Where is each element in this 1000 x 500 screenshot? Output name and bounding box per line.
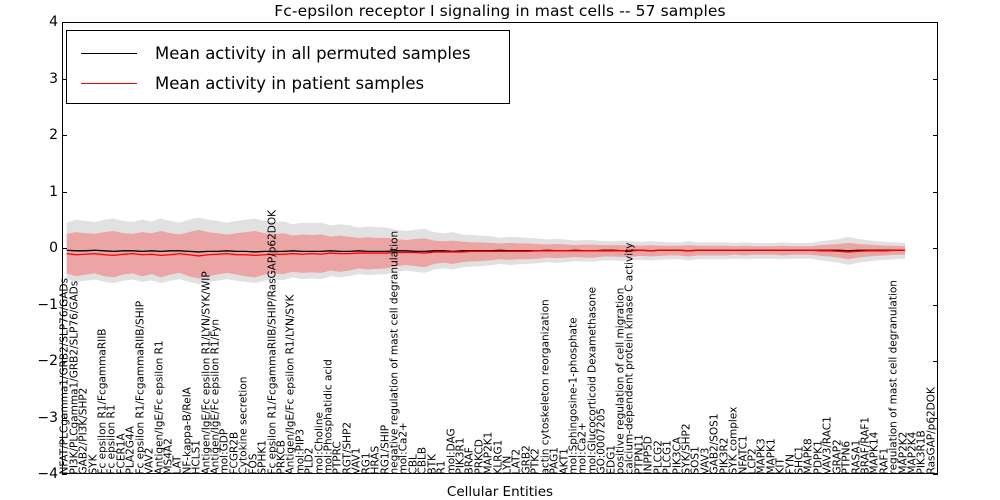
y-tick-mark [62,192,67,193]
y-tick-label: 4 [18,14,58,30]
legend-line-patient [81,83,137,84]
y-tick-mark [62,22,67,23]
y-tick-mark [933,305,938,306]
legend: Mean activity in all permuted samples Me… [66,30,510,104]
y-tick-label: 1 [18,184,58,200]
y-tick-label: −3 [18,410,58,426]
y-tick-mark [933,248,938,249]
x-tick-label: RasGAP/p62DOK [926,387,937,474]
legend-line-permuted [81,53,137,54]
y-tick-mark [933,22,938,23]
legend-label-permuted: Mean activity in all permuted samples [155,44,471,63]
y-tick-label: 0 [18,240,58,256]
x-tick-label: Fc epsilon R1/FcgammaRIIB/SHIP/RasGAP/p6… [267,210,278,475]
x-axis-label: Cellular Entities [0,484,1000,500]
y-tick-label: −4 [18,466,58,482]
y-tick-label: −2 [18,353,58,369]
y-tick-mark [933,79,938,80]
y-tick-mark [933,135,938,136]
y-tick-mark [933,192,938,193]
legend-label-patient: Mean activity in patient samples [155,74,424,93]
y-tick-mark [933,361,938,362]
y-tick-label: 2 [18,127,58,143]
y-tick-label: 3 [18,71,58,87]
legend-item-patient: Mean activity in patient samples [81,68,509,98]
y-tick-mark [62,248,67,249]
y-tick-label: −1 [18,297,58,313]
figure: Fc-epsilon receptor I signaling in mast … [0,0,1000,500]
y-tick-mark [62,135,67,136]
legend-item-permuted: Mean activity in all permuted samples [81,38,509,68]
